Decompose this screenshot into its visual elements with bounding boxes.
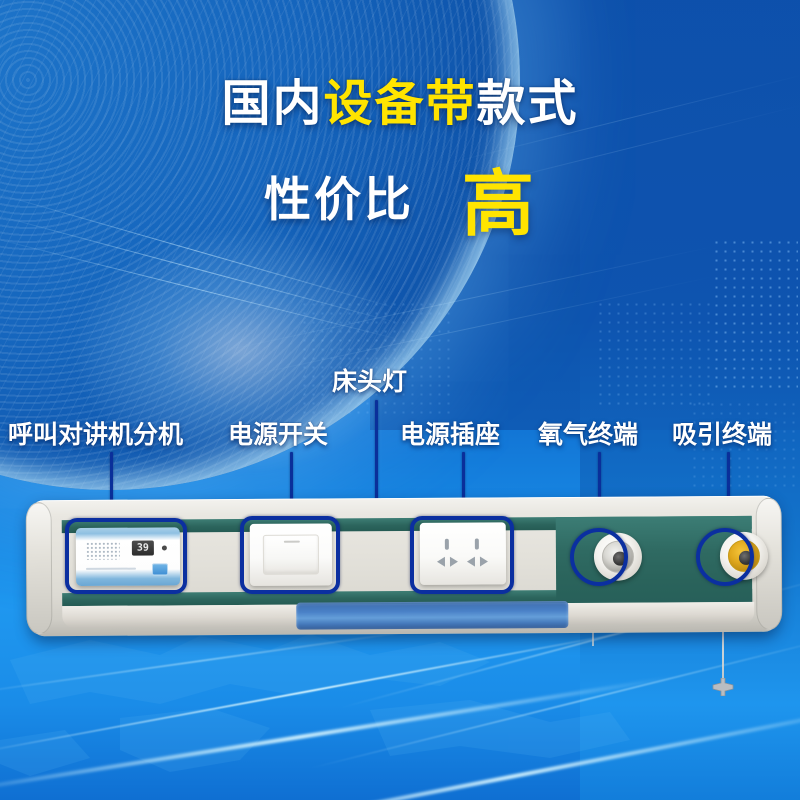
callout-label-bed-lamp[interactable]: 床头灯 — [332, 362, 407, 398]
headline-prefix: 国内 — [221, 75, 323, 132]
callout-label-oxygen[interactable]: 氧气终端 — [538, 415, 638, 451]
dot-matrix-top-right — [712, 238, 798, 388]
banner-stage: 国内设备带款式 性价比 高 呼叫对讲机分机 电源开关 床头灯 电源插座 氧气终端… — [0, 0, 800, 800]
unit-end-cap-left — [26, 502, 53, 634]
callout-label-suction[interactable]: 吸引终端 — [672, 415, 772, 451]
callout-label-socket[interactable]: 电源插座 — [400, 415, 500, 451]
headline-suffix: 款式 — [477, 75, 579, 132]
highlight-ring-intercom — [65, 518, 187, 594]
callout-label-switch[interactable]: 电源开关 — [228, 415, 328, 451]
headline-highlight: 设备带 — [323, 75, 476, 132]
headline-value-text: 性价比 — [264, 161, 414, 230]
suction-hook-icon — [711, 678, 735, 696]
highlight-ring-socket — [410, 516, 514, 594]
dot-matrix-mid — [596, 300, 716, 410]
headline-line-2: 性价比 高 — [0, 143, 800, 248]
highlight-ring-oxygen — [570, 528, 628, 586]
highlight-ring-suction — [696, 528, 754, 586]
bed-lamp-window[interactable] — [296, 601, 568, 630]
headline-line-1: 国内设备带款式 — [0, 78, 800, 129]
highlight-ring-switch — [240, 516, 340, 594]
headline-big-word: 高 — [462, 145, 536, 250]
headline-block: 国内设备带款式 性价比 高 — [0, 78, 800, 248]
callout-label-intercom[interactable]: 呼叫对讲机分机 — [8, 415, 183, 451]
